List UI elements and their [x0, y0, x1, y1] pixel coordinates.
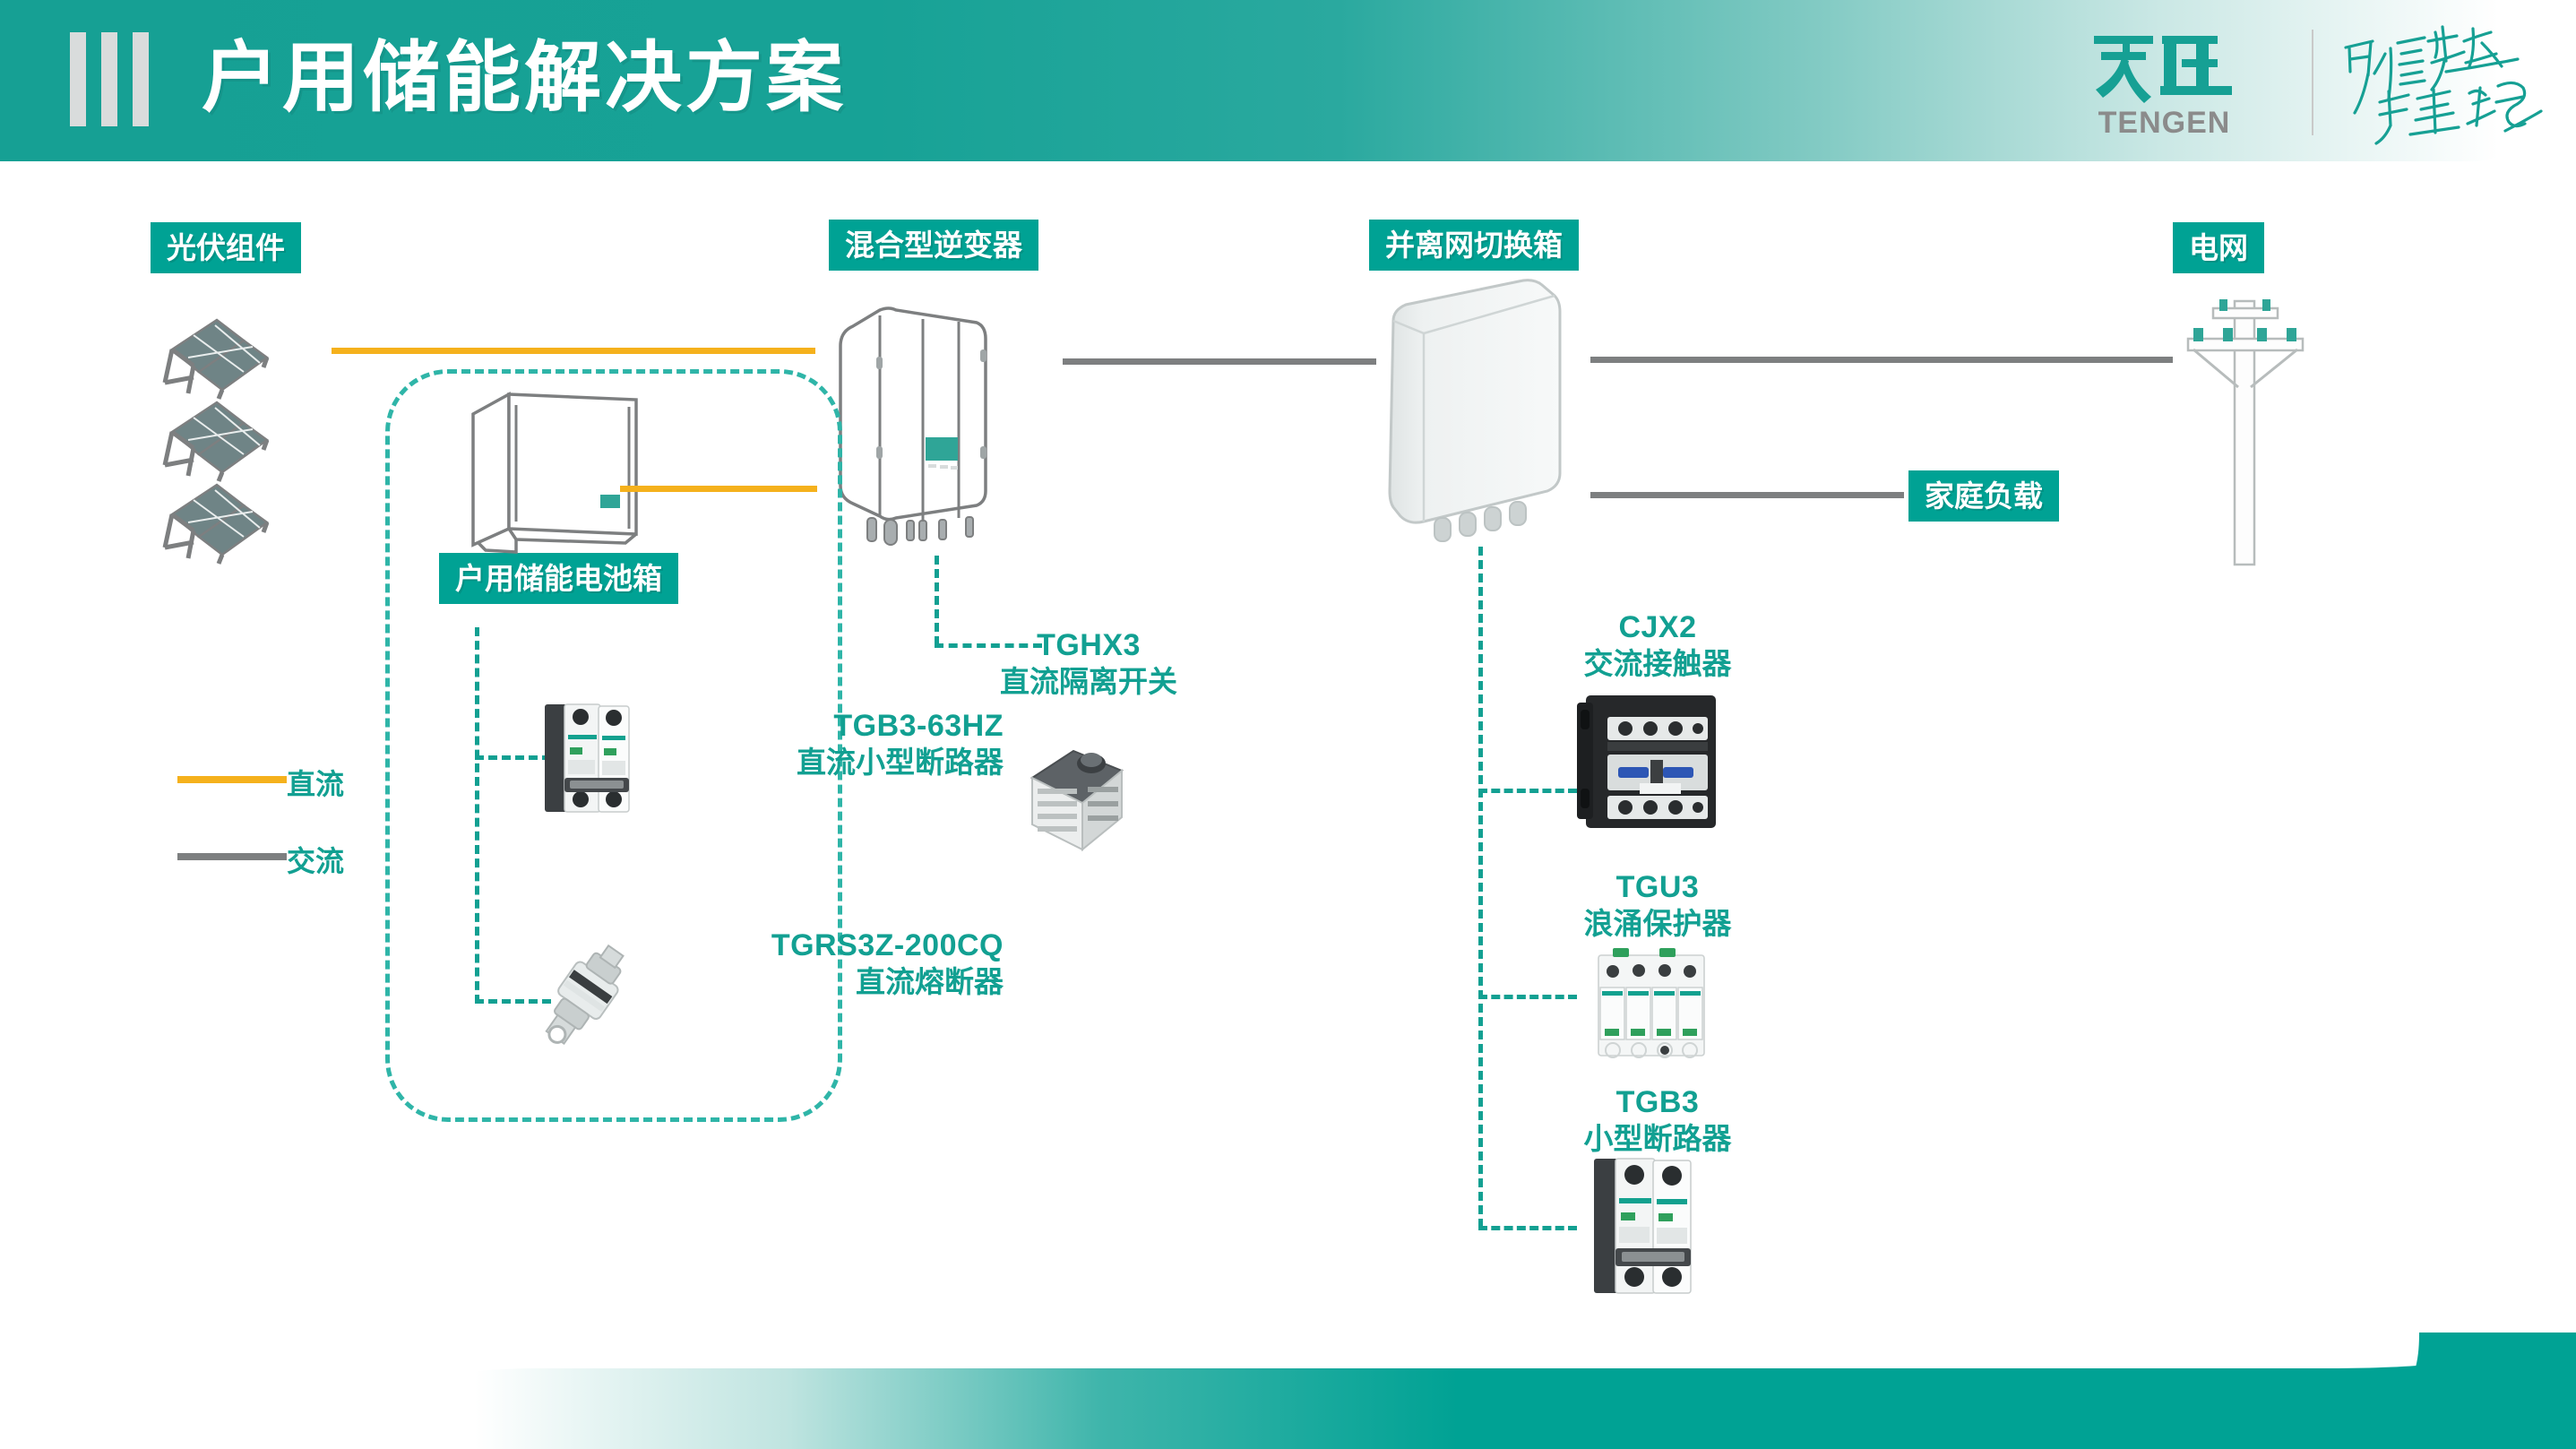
utility-pole-icon [2168, 287, 2321, 582]
logo-en-text: TENGEN [2086, 106, 2243, 141]
product-label-tghx3: TGHX3 直流隔离开关 [914, 627, 1263, 701]
legend-dc-label: 直流 [287, 762, 344, 803]
switchbox-branch-to-tgu3 [1478, 995, 1577, 999]
brand-logo: TENGEN [2043, 0, 2576, 161]
product-label-tgrs3z-200cq: TGRS3Z-200CQ 直流熔断器 [591, 927, 1004, 1001]
cjx2-contactor-icon [1577, 690, 1725, 833]
tghx3-isolator-icon [1021, 735, 1142, 860]
switchbox-branch-to-cjx2 [1478, 789, 1577, 793]
badge-pv-modules: 光伏组件 [151, 222, 301, 273]
badge-switch-box: 并离网切换箱 [1369, 220, 1579, 271]
tengen-logo-icon [2092, 27, 2236, 108]
footer-decoration [0, 1333, 2576, 1449]
ac-line-switchbox-to-grid [1590, 357, 2173, 363]
logo-divider [2312, 30, 2313, 135]
grid-switch-box-icon [1384, 278, 1564, 547]
legend-dc-swatch [177, 776, 287, 783]
product-label-tgb3: TGB3 小型断路器 [1514, 1084, 1801, 1158]
ac-line-switchbox-to-home-load [1590, 492, 1904, 498]
legend-ac-swatch [177, 853, 287, 860]
product-code: TGB3 [1514, 1084, 1801, 1121]
badge-grid: 电网 [2173, 222, 2264, 273]
legend-ac-label: 交流 [287, 839, 344, 880]
badge-hybrid-inverter: 混合型逆变器 [829, 220, 1038, 271]
product-label-tgb3-63hz: TGB3-63HZ 直流小型断路器 [627, 708, 1004, 781]
battery-branch-stem [475, 627, 479, 1004]
hybrid-inverter-icon [833, 296, 1004, 556]
product-code: CJX2 [1514, 609, 1801, 646]
product-code: TGRS3Z-200CQ [591, 927, 1004, 964]
product-label-cjx2: CJX2 交流接触器 [1514, 609, 1801, 683]
product-desc: 浪涌保护器 [1514, 906, 1801, 942]
tgu3-spd-icon [1593, 943, 1710, 1068]
tgb3-63hz-breaker-icon [538, 699, 636, 815]
brand-slogan-icon [2339, 16, 2554, 146]
product-desc: 直流隔离开关 [914, 664, 1263, 700]
badge-home-load: 家庭负载 [1908, 470, 2059, 522]
product-code: TGHX3 [914, 627, 1263, 664]
product-desc: 直流小型断路器 [627, 745, 1004, 781]
tgb3-breaker-icon [1590, 1151, 1698, 1299]
slide-canvas: 户用储能解决方案 TENGEN [0, 0, 2576, 1449]
ac-line-inverter-to-switchbox [1063, 358, 1376, 365]
product-desc: 交流接触器 [1514, 646, 1801, 682]
product-label-tgu3: TGU3 浪涌保护器 [1514, 869, 1801, 943]
product-code: TGU3 [1514, 869, 1801, 906]
page-title: 户用储能解决方案 [202, 29, 847, 127]
switchbox-branch-to-tgb3 [1478, 1226, 1577, 1230]
pv-panel-array-icon [152, 300, 340, 560]
dc-line-pv-to-inverter [332, 348, 815, 354]
product-desc: 直流熔断器 [591, 964, 1004, 1000]
switchbox-branch-stem [1478, 547, 1483, 1228]
product-code: TGB3-63HZ [627, 708, 1004, 745]
header-bars-icon [70, 32, 149, 126]
